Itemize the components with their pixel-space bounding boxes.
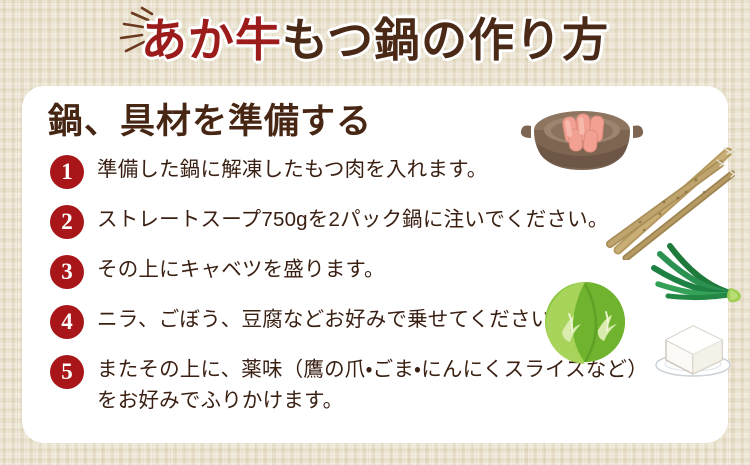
step-number-badge: 1	[50, 155, 84, 189]
content-card: 鍋、具材を準備する 1 準備した鍋に解凍したもつ肉を入れます。 2 ストレートス…	[22, 86, 728, 443]
page-title: あか牛もつ鍋の作り方	[0, 11, 750, 71]
recipe-infographic: あか牛もつ鍋の作り方 鍋、具材を準備する 1 準備した鍋に解凍したもつ肉を入れま…	[0, 0, 750, 465]
cabbage-illustration	[540, 278, 630, 364]
step-number-badge: 2	[50, 205, 84, 239]
section-heading: 鍋、具材を準備する	[48, 100, 372, 144]
step-number-badge: 3	[50, 255, 84, 289]
tofu-on-plate-illustration	[652, 318, 734, 380]
step-number-badge: 5	[50, 355, 84, 389]
step-number-badge: 4	[50, 305, 84, 339]
title-part-brown: もつ鍋の作り方	[282, 15, 609, 66]
title-banner: あか牛もつ鍋の作り方	[0, 0, 750, 84]
title-part-red: あか牛	[141, 15, 282, 66]
garlic-chives-nira-illustration	[630, 238, 742, 310]
